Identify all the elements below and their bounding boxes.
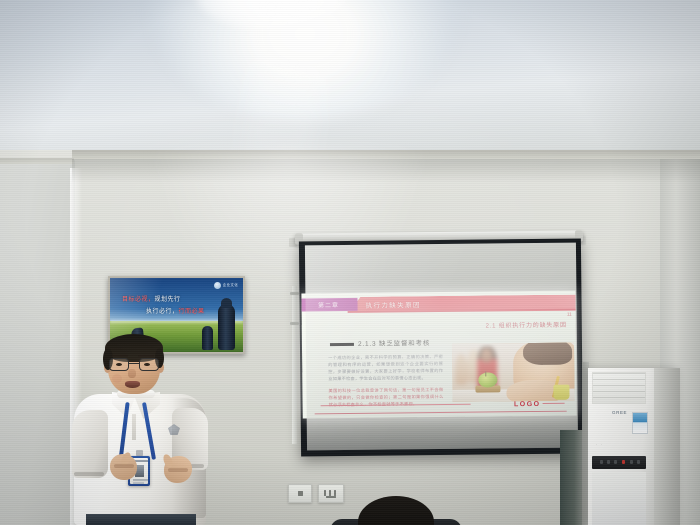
ac-air-outlet	[592, 372, 646, 404]
slide-chapter-label: 第二章	[318, 300, 339, 309]
slide-photo-classroom	[452, 343, 575, 402]
presenter-nose	[128, 369, 136, 378]
slide-heading-rule	[330, 343, 354, 346]
wall-plate-port	[298, 491, 303, 496]
ac-led-2	[607, 460, 610, 464]
ac-lower-panel	[592, 472, 646, 525]
left-wall-column	[0, 160, 75, 525]
slide-heading: 2.1.3 缺乏监督和考核	[358, 337, 430, 348]
ac-louver-vanes	[593, 373, 645, 403]
presenter-trousers	[86, 514, 196, 525]
ac-led-3	[614, 460, 617, 464]
ac-led-power	[622, 460, 625, 464]
slide-page-number: 11	[567, 312, 572, 317]
presenter-eye-right	[144, 363, 150, 366]
presenter-finger-left	[114, 464, 134, 468]
ac-led-5	[637, 460, 640, 464]
ac-led-1	[600, 460, 603, 464]
slide-subtitle: 2.1 组织执行力的缺失原因	[486, 320, 567, 330]
ac-model-mark: · ·	[596, 442, 603, 447]
badge-role-line	[133, 482, 144, 484]
screen-bottom-shading	[307, 418, 578, 451]
power-socket[interactable]	[318, 484, 344, 503]
strip-clip-lower	[290, 322, 299, 325]
air-conditioner[interactable]: GREE · ·	[588, 368, 680, 525]
presenter-cuff-left	[74, 472, 104, 476]
badge-name-line	[133, 479, 148, 481]
slide-footer-rule-right	[543, 402, 565, 404]
photo-scene: 目标必视，规划先行 执行必行，行而必果 企业文化 执行力缺失原因 第二章	[0, 0, 700, 525]
ceiling-wall-joint-left	[0, 158, 74, 164]
screen-surface: 执行力缺失原因 第二章 11 2.1 组织执行力的缺失原因 2.1.3 缺乏监督…	[305, 243, 578, 451]
slide-chapter-tab: 第二章	[301, 298, 357, 312]
presenter-eye-left	[116, 363, 122, 366]
projected-slide: 执行力缺失原因 第二章 11 2.1 组织执行力的缺失原因 2.1.3 缺乏监督…	[301, 291, 576, 419]
projection-screen[interactable]: 执行力缺失原因 第二章 11 2.1 组织执行力的缺失原因 2.1.3 缺乏监督…	[299, 239, 583, 457]
presenter-shirt-placket	[132, 414, 136, 440]
wall-plate[interactable]	[288, 484, 312, 503]
presenter-brow-left	[112, 355, 128, 357]
glasses-bridge	[129, 363, 139, 364]
corner-shadow	[560, 430, 584, 525]
presenter-sleeve-left	[72, 410, 108, 478]
presenter-cheek	[112, 374, 122, 383]
presenter-brow-right	[138, 355, 154, 357]
presenter	[72, 336, 208, 525]
strip-clip-upper	[290, 292, 299, 295]
ac-control-panel[interactable]	[592, 456, 646, 469]
slide-paragraph: 一个成功的企业，离不开科学的预算、正确的决策、严密的管理和有序的运营，如果想做到…	[328, 354, 443, 383]
presenter-finger-right	[168, 468, 188, 472]
slide-banner-title: 执行力缺失原因	[365, 299, 420, 310]
presenter-mouth-speaking	[125, 381, 140, 388]
slide-footer-logo: LOGO	[514, 401, 541, 408]
socket-slot	[326, 496, 336, 498]
ac-led-4	[630, 460, 633, 464]
wall-cable-strip	[292, 286, 297, 444]
ac-side-panel	[654, 368, 680, 525]
ac-brand-label: GREE	[612, 410, 627, 415]
ac-energy-label-sticker	[632, 412, 648, 434]
photo-projection-washout	[452, 343, 575, 402]
